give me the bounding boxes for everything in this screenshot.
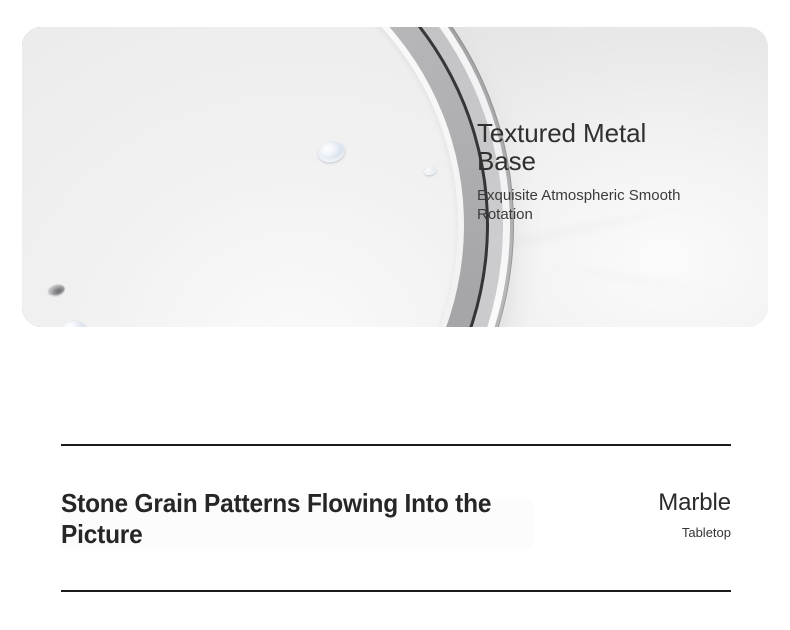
hero-overlay-text: Textured Metal Base Exquisite Atmospheri…	[477, 119, 727, 225]
caption-material-name: Marble	[658, 490, 731, 516]
caption-headline: Stone Grain Patterns Flowing Into the Pi…	[61, 488, 503, 550]
hero-overlay-title: Textured Metal Base	[477, 119, 727, 175]
caption-product-type: Tabletop	[658, 526, 731, 540]
turntable-metal-ring	[22, 27, 543, 327]
caption-row: Stone Grain Patterns Flowing Into the Pi…	[61, 446, 731, 590]
caption-left-group: Stone Grain Patterns Flowing Into the Pi…	[61, 488, 531, 550]
hero-overlay-subtitle: Exquisite Atmospheric Smooth Rotation	[477, 187, 705, 225]
caption-block: Stone Grain Patterns Flowing Into the Pi…	[61, 444, 731, 592]
ring-center-opening	[22, 27, 483, 327]
hero-image-card: Textured Metal Base Exquisite Atmospheri…	[22, 27, 768, 327]
marble-vein	[543, 263, 742, 297]
divider-bottom	[61, 590, 731, 592]
caption-right-group: Marble Tabletop	[658, 488, 731, 541]
